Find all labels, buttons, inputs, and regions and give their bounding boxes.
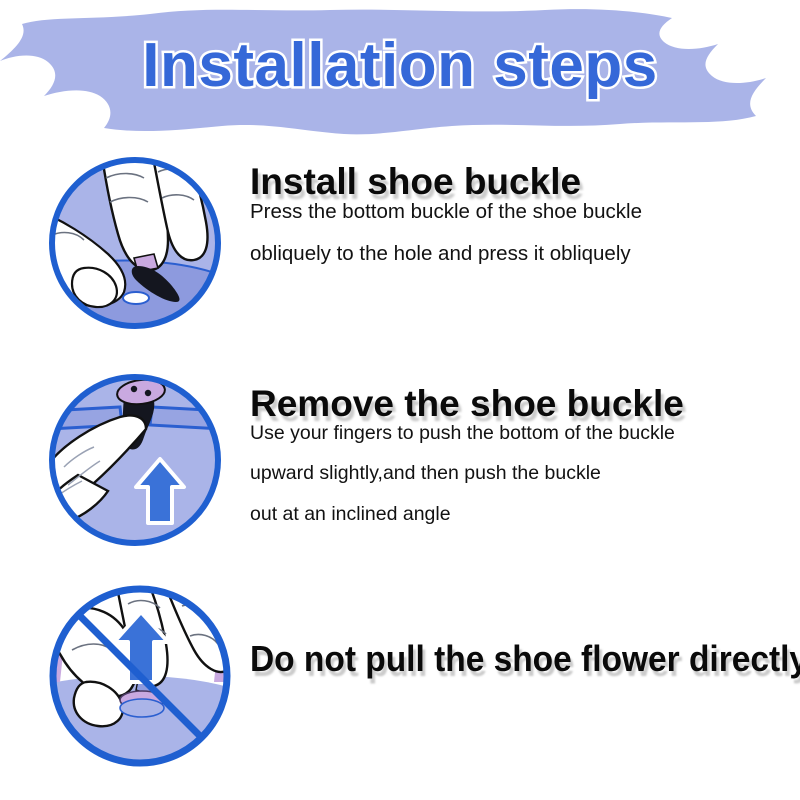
remove-figure bbox=[42, 367, 228, 553]
remove-body-line-2: upward slightly,and then push the buckle bbox=[250, 464, 790, 484]
finger-pushing-buckle-up-illustration bbox=[42, 367, 228, 553]
remove-textblock: Remove the shoe buckle Use your fingers … bbox=[250, 384, 790, 524]
remove-body-line-3: out at an inclined angle bbox=[250, 505, 790, 525]
install-textblock: Install shoe buckle Press the bottom buc… bbox=[250, 162, 790, 265]
install-heading: Install shoe buckle bbox=[250, 162, 790, 202]
title-banner: Installation steps bbox=[0, 0, 800, 148]
install-body-line-1: Press the bottom buckle of the shoe buck… bbox=[250, 202, 790, 223]
do-not-pull-figure bbox=[42, 578, 238, 774]
page-title: Installation steps bbox=[0, 30, 800, 101]
finger-pressing-buckle-illustration bbox=[42, 150, 228, 336]
install-figure bbox=[42, 150, 228, 336]
prohibited-pull-flower-illustration bbox=[42, 578, 238, 774]
install-body-line-2: obliquely to the hole and press it obliq… bbox=[250, 244, 790, 265]
remove-heading: Remove the shoe buckle bbox=[250, 384, 790, 424]
do-not-pull-textblock: Do not pull the shoe flower directly bbox=[250, 640, 790, 679]
do-not-pull-heading: Do not pull the shoe flower directly bbox=[250, 640, 752, 679]
remove-body-line-1: Use your fingers to push the bottom of t… bbox=[250, 424, 790, 444]
